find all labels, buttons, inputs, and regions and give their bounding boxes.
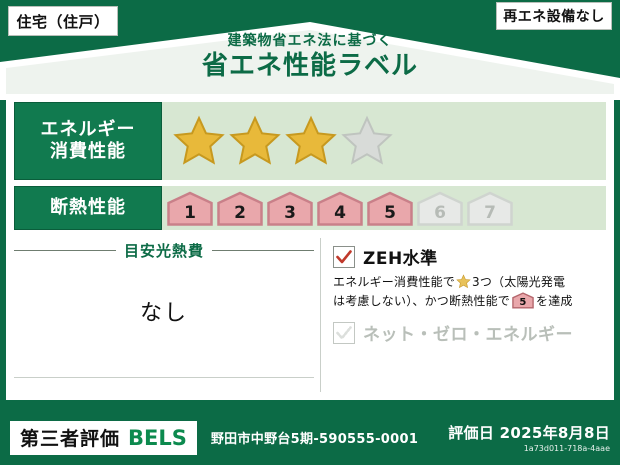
bels-logo-text: BELS bbox=[128, 426, 187, 450]
insulation-level-4: 4 bbox=[316, 190, 364, 226]
check-icon bbox=[336, 250, 352, 264]
nze-check-row: ネット・ゼロ・エネルギー bbox=[333, 320, 606, 345]
energy-label-root: 住宅（住戸） 再エネ設備なし 建築物省エネ法に基づく 省エネ性能ラベル エネルギ… bbox=[0, 0, 620, 465]
insulation-level-number: 5 bbox=[384, 203, 396, 226]
insulation-level-number: 4 bbox=[334, 203, 346, 226]
zeh-description: エネルギー消費性能で3つ（太陽光発電 は考慮しない）、かつ断熱性能で5を達成 bbox=[333, 273, 606, 310]
insulation-level-number: 6 bbox=[434, 203, 446, 226]
energy-key-line1: エネルギー bbox=[41, 119, 136, 142]
label-hash-id: 1a73d011-718a-4aae bbox=[448, 444, 610, 453]
zeh-desc-part2: 3つ（太陽光発電 bbox=[472, 275, 565, 289]
insulation-performance-key: 断熱性能 bbox=[14, 186, 162, 230]
vertical-divider bbox=[320, 238, 321, 392]
insulation-level-scale: 1234567 bbox=[166, 190, 514, 226]
zeh-desc-part4: を達成 bbox=[536, 294, 573, 308]
lower-section: 目安光熱費 なし ZEH水準 エネルギー消費性能で3つ（ bbox=[14, 236, 606, 394]
building-type-tag: 住宅（住戸） bbox=[8, 6, 118, 36]
star-rating bbox=[172, 114, 394, 168]
utility-cost-heading: 目安光熱費 bbox=[14, 240, 314, 261]
nze-checkbox bbox=[333, 322, 355, 344]
energy-performance-key: エネルギー 消費性能 bbox=[14, 102, 162, 180]
inline-star-icon bbox=[456, 274, 471, 289]
inline-insulation-badge: 5 bbox=[512, 292, 534, 309]
zeh-label: ZEH水準 bbox=[363, 244, 438, 269]
check-icon-faded bbox=[336, 326, 352, 340]
inline-badge-number: 5 bbox=[512, 292, 534, 309]
zeh-desc-part3: は考慮しない）、かつ断熱性能で bbox=[333, 294, 510, 308]
energy-performance-value bbox=[162, 102, 606, 180]
insulation-level-2: 2 bbox=[216, 190, 264, 226]
title-block: 建築物省エネ法に基づく 省エネ性能ラベル bbox=[0, 34, 620, 83]
label-footer: 第三者評価 BELS 野田市中野台5期-590555-0001 評価日 2025… bbox=[0, 410, 620, 465]
evaluation-date: 評価日 2025年8月8日 bbox=[448, 422, 610, 443]
rule-line-right bbox=[212, 250, 314, 251]
insulation-level-7: 7 bbox=[466, 190, 514, 226]
insulation-level-3: 3 bbox=[266, 190, 314, 226]
energy-performance-row: エネルギー 消費性能 bbox=[14, 102, 606, 180]
insulation-performance-row: 断熱性能 1234567 bbox=[14, 186, 606, 230]
insulation-level-6: 6 bbox=[416, 190, 464, 226]
zeh-desc-part1: エネルギー消費性能で bbox=[333, 275, 455, 289]
property-address: 野田市中野台5期-590555-0001 bbox=[211, 428, 418, 447]
rule-line-left bbox=[14, 250, 116, 251]
energy-key-line2: 消費性能 bbox=[50, 141, 126, 164]
insulation-level-number: 3 bbox=[284, 203, 296, 226]
utility-cost-value: なし bbox=[14, 295, 314, 327]
nze-label: ネット・ゼロ・エネルギー bbox=[363, 320, 573, 345]
utility-cost-title: 目安光熱費 bbox=[124, 240, 204, 261]
utility-cost-bottom-rule bbox=[14, 377, 314, 378]
insulation-performance-value: 1234567 bbox=[162, 186, 606, 230]
footer-right: 評価日 2025年8月8日 1a73d011-718a-4aae bbox=[448, 422, 610, 453]
insulation-level-number: 1 bbox=[184, 203, 196, 226]
third-party-eval-text: 第三者評価 bbox=[20, 424, 120, 451]
star-filled-icon bbox=[284, 114, 338, 168]
zeh-check-row: ZEH水準 bbox=[333, 244, 606, 269]
renewable-equipment-tag: 再エネ設備なし bbox=[496, 2, 612, 30]
insulation-level-5: 5 bbox=[366, 190, 414, 226]
zeh-checkbox bbox=[333, 246, 355, 268]
insulation-level-number: 7 bbox=[484, 203, 496, 226]
bels-badge: 第三者評価 BELS bbox=[10, 421, 197, 455]
label-subtitle: 建築物省エネ法に基づく bbox=[0, 34, 620, 49]
label-title: 省エネ性能ラベル bbox=[0, 51, 620, 82]
star-filled-icon bbox=[228, 114, 282, 168]
utility-cost-panel: 目安光熱費 なし bbox=[14, 236, 314, 394]
star-filled-icon bbox=[172, 114, 226, 168]
star-empty-icon bbox=[340, 114, 394, 168]
insulation-level-1: 1 bbox=[166, 190, 214, 226]
label-card: エネルギー 消費性能 断熱性能 1234567 目安光熱費 なし bbox=[6, 94, 614, 400]
insulation-level-number: 2 bbox=[234, 203, 246, 226]
zeh-panel: ZEH水準 エネルギー消費性能で3つ（太陽光発電 は考慮しない）、かつ断熱性能で… bbox=[333, 236, 606, 394]
